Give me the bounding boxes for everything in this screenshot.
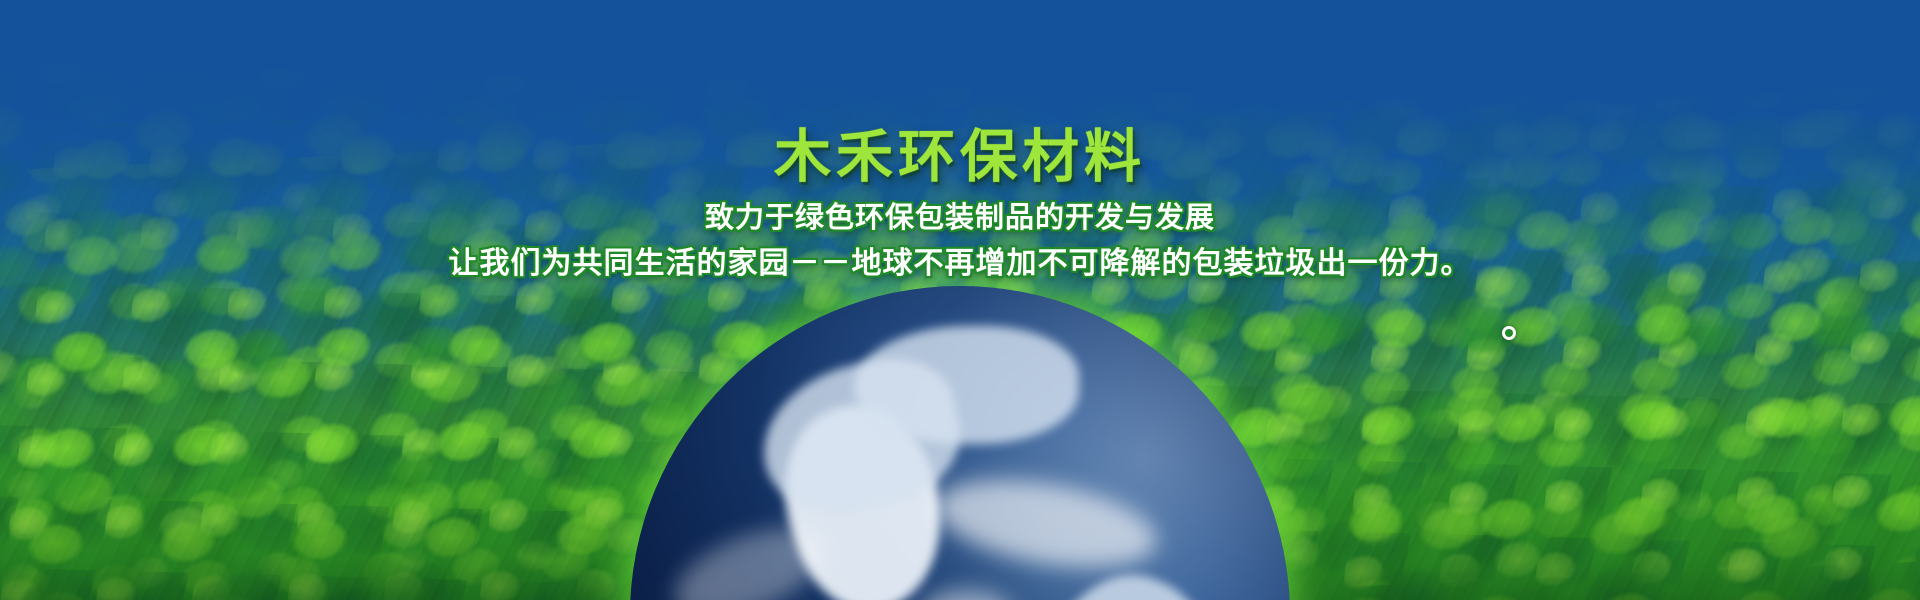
polar-ice-edge [854, 326, 1078, 445]
earth-globe-sphere [630, 286, 1290, 600]
banner-title: 木禾环保材料 [0, 128, 1920, 186]
cloud-band-north [928, 465, 1163, 582]
location-dot-marker-icon [1502, 326, 1516, 340]
banner-subtitle-primary: 致力于绿色环保包装制品的开发与发展 [0, 200, 1920, 234]
banner-text-block: 木禾环保材料 致力于绿色环保包装制品的开发与发展 让我们为共同生活的家园－－地球… [0, 128, 1920, 282]
cloud-patch-center [920, 590, 1012, 600]
eco-packaging-banner: 木禾环保材料 致力于绿色环保包装制品的开发与发展 让我们为共同生活的家园－－地球… [0, 0, 1920, 600]
banner-subtitle-secondary: 让我们为共同生活的家园－－地球不再增加不可降解的包装垃圾出一份力。 [0, 246, 1920, 281]
earth-globe-graphic [630, 286, 1290, 600]
